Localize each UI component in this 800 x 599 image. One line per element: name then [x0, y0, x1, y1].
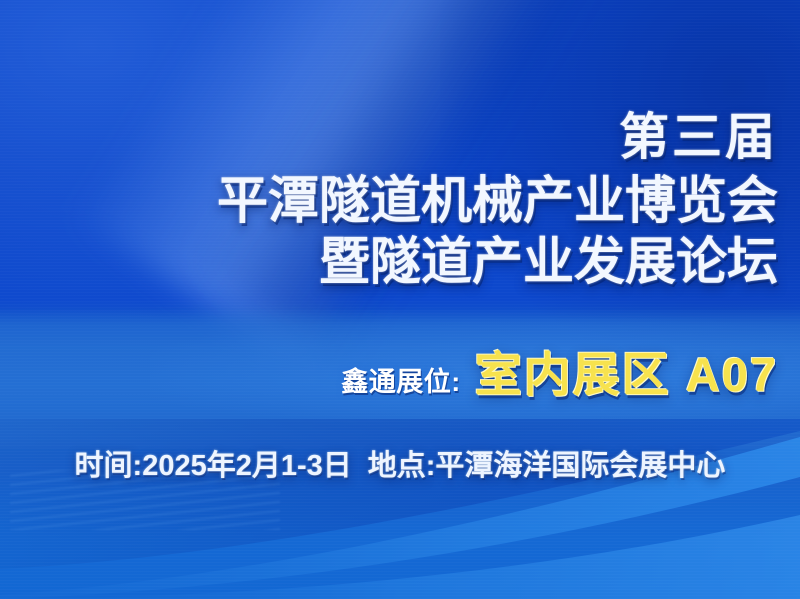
event-poster: 第三届 平潭隧道机械产业博览会 暨隧道产业发展论坛 鑫通展位: 室内展区 A07…	[0, 0, 800, 599]
booth-number: 室内展区 A07	[475, 336, 778, 405]
headline-expo-title: 平潭隧道机械产业博览会	[217, 172, 778, 230]
footer-time: 时间:2025年2月1-3日	[75, 450, 352, 482]
headline-edition: 第三届	[619, 108, 778, 166]
headline-forum-subtitle: 暨隧道产业发展论坛	[319, 233, 778, 291]
footer-place: 地点:平潭海洋国际会展中心	[368, 450, 726, 482]
booth-label: 鑫通展位:	[341, 360, 461, 399]
footer-details: 时间:2025年2月1-3日地点:平潭海洋国际会展中心	[0, 442, 800, 484]
booth-info-row: 鑫通展位: 室内展区 A07	[341, 336, 778, 405]
poster-text-layer: 第三届 平潭隧道机械产业博览会 暨隧道产业发展论坛 鑫通展位: 室内展区 A07…	[0, 0, 800, 599]
